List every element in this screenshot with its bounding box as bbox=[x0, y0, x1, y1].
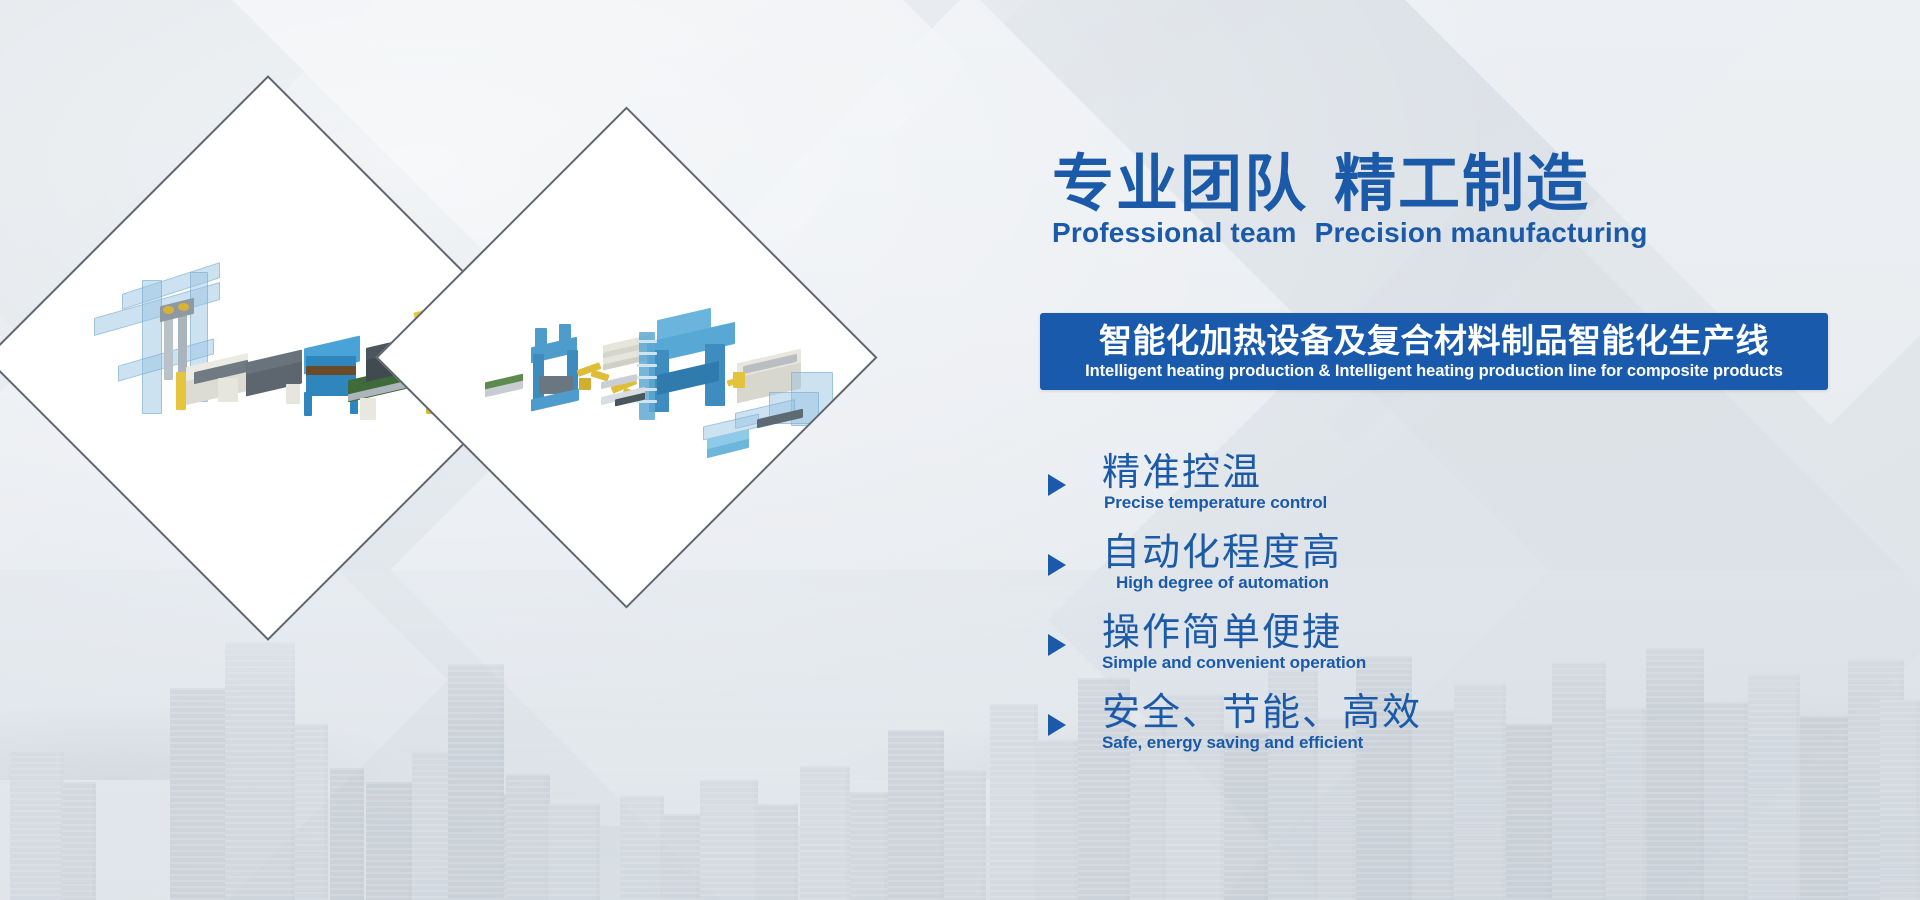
highlight-bar: 智能化加热设备及复合材料制品智能化生产线 Intelligent heating… bbox=[1040, 313, 1828, 390]
highlight-bar-chinese: 智能化加热设备及复合材料制品智能化生产线 bbox=[1054, 323, 1814, 360]
triangle-right-icon bbox=[1048, 634, 1066, 656]
feature-label-en: Precise temperature control bbox=[1102, 493, 1860, 513]
promo-banner: 专业团队精工制造 Professional teamPrecision manu… bbox=[0, 0, 1920, 900]
feature-item-safe-efficient: 安全、节能、高效 Safe, energy saving and efficie… bbox=[1040, 692, 1860, 772]
highlight-bar-english: Intelligent heating production & Intelli… bbox=[1054, 362, 1814, 381]
headline-en-part1: Professional team bbox=[1052, 217, 1297, 248]
feature-label-cn: 精准控温 bbox=[1102, 452, 1860, 492]
headline-chinese: 专业团队精工制造 bbox=[1052, 152, 1648, 215]
headline-en-part2: Precision manufacturing bbox=[1315, 217, 1648, 248]
triangle-right-icon bbox=[1048, 554, 1066, 576]
feature-label-cn: 操作简单便捷 bbox=[1102, 612, 1860, 652]
feature-item-automation: 自动化程度高 High degree of automation bbox=[1040, 532, 1860, 612]
feature-item-simple-operation: 操作简单便捷 Simple and convenient operation bbox=[1040, 612, 1860, 692]
triangle-right-icon bbox=[1048, 714, 1066, 736]
headline-cn-part1: 专业团队 bbox=[1052, 147, 1308, 220]
feature-label-en: Simple and convenient operation bbox=[1102, 653, 1860, 673]
triangle-right-icon bbox=[1048, 474, 1066, 496]
banner-copy: 专业团队精工制造 Professional teamPrecision manu… bbox=[1040, 0, 1900, 900]
feature-label-en: High degree of automation bbox=[1102, 573, 1860, 593]
feature-label-en: Safe, energy saving and efficient bbox=[1102, 733, 1860, 753]
feature-item-precise-temperature: 精准控温 Precise temperature control bbox=[1040, 452, 1860, 532]
headline-cn-part2: 精工制造 bbox=[1334, 147, 1590, 220]
page-title: 专业团队精工制造 Professional teamPrecision manu… bbox=[1052, 152, 1648, 249]
feature-list: 精准控温 Precise temperature control 自动化程度高 … bbox=[1040, 452, 1860, 772]
headline-english: Professional teamPrecision manufacturing bbox=[1052, 217, 1648, 249]
feature-label-cn: 安全、节能、高效 bbox=[1102, 692, 1860, 732]
photo-2-content bbox=[451, 182, 802, 533]
feature-label-cn: 自动化程度高 bbox=[1102, 532, 1860, 572]
